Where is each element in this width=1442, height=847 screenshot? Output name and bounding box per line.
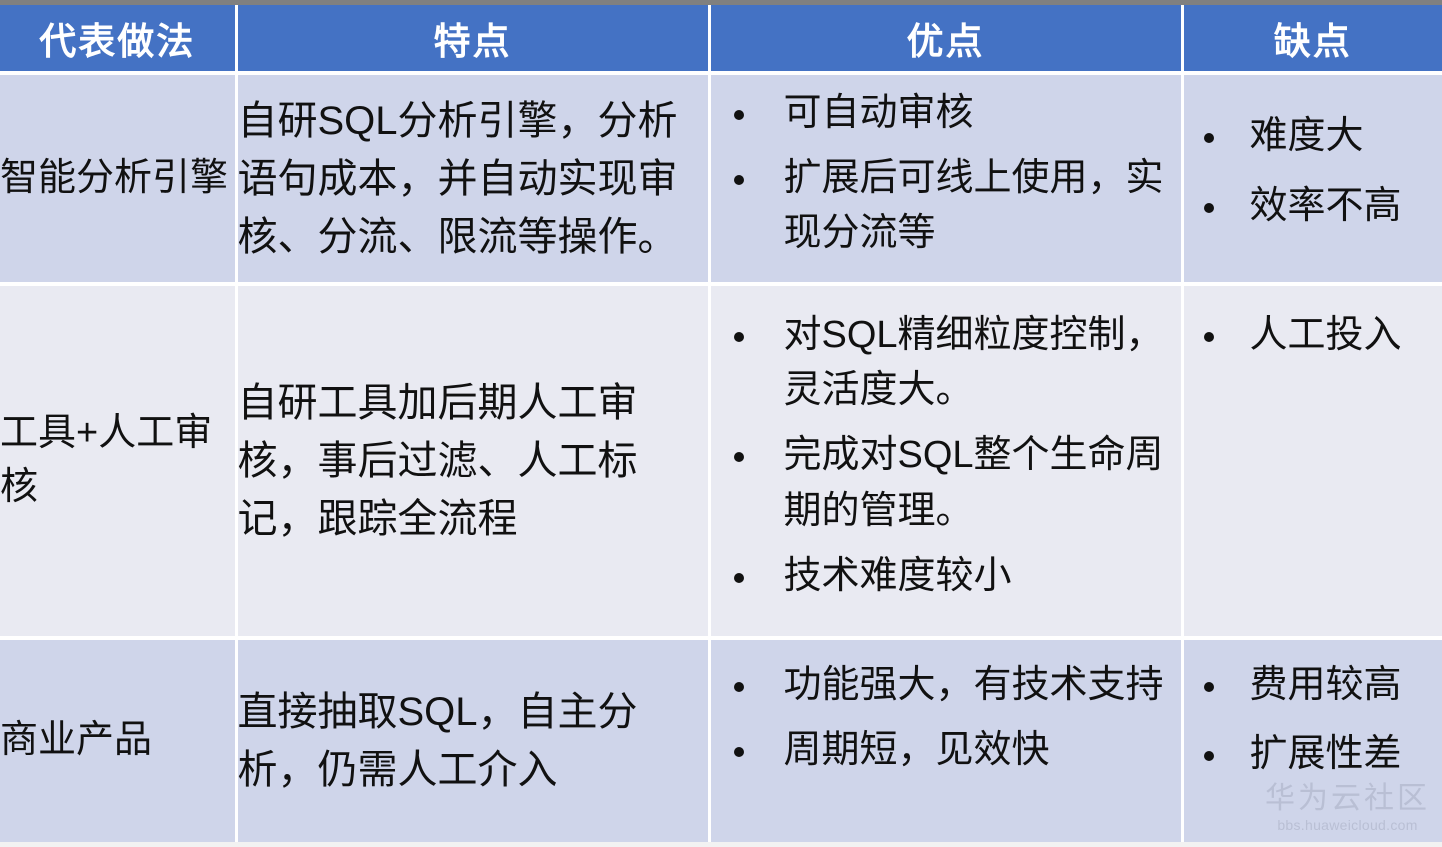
pros-list: 可自动审核 扩展后可线上使用，实现分流等 (711, 86, 1181, 261)
cell-pros: 可自动审核 扩展后可线上使用，实现分流等 (709, 73, 1182, 284)
list-item: 技术难度较小 (730, 549, 1173, 604)
table-header-row: 代表做法 特点 优点 缺点 (0, 5, 1442, 73)
list-item: 效率不高 (1198, 179, 1435, 234)
table-row: 商业产品 直接抽取SQL，自主分析，仍需人工介入 功能强大，有技术支持 周期短，… (0, 638, 1442, 842)
comparison-table-slide: 代表做法 特点 优点 缺点 智能分析引擎 自研SQL分析引擎，分析语句成本，并自… (0, 0, 1442, 847)
table-row: 智能分析引擎 自研SQL分析引擎，分析语句成本，并自动实现审核、分流、限流等操作… (0, 73, 1442, 284)
list-item: 周期短，见效快 (730, 723, 1173, 778)
column-header-pros: 优点 (709, 5, 1182, 73)
list-item: 费用较高 (1198, 658, 1435, 713)
cons-list: 人工投入 (1184, 286, 1442, 363)
cell-approach: 智能分析引擎 (0, 73, 236, 284)
list-item: 扩展后可线上使用，实现分流等 (730, 151, 1173, 261)
list-item: 难度大 (1198, 109, 1435, 164)
cons-list: 费用较高 扩展性差 (1184, 640, 1442, 782)
column-header-cons: 缺点 (1182, 5, 1442, 73)
list-item: 可自动审核 (730, 86, 1173, 141)
cell-features: 直接抽取SQL，自主分析，仍需人工介入 (236, 638, 709, 842)
cell-features: 自研工具加后期人工审核，事后过滤、人工标记，跟踪全流程 (236, 284, 709, 638)
cell-approach: 工具+人工审核 (0, 284, 236, 638)
cell-cons: 人工投入 (1182, 284, 1442, 638)
cons-list: 难度大 效率不高 (1184, 109, 1442, 233)
cell-pros: 功能强大，有技术支持 周期短，见效快 (709, 638, 1182, 842)
comparison-table: 代表做法 特点 优点 缺点 智能分析引擎 自研SQL分析引擎，分析语句成本，并自… (0, 5, 1442, 842)
cell-pros: 对SQL精细粒度控制，灵活度大。 完成对SQL整个生命周期的管理。 技术难度较小 (709, 284, 1182, 638)
pros-list: 对SQL精细粒度控制，灵活度大。 完成对SQL整个生命周期的管理。 技术难度较小 (711, 308, 1181, 603)
list-item: 扩展性差 (1198, 727, 1435, 782)
pros-list: 功能强大，有技术支持 周期短，见效快 (711, 640, 1181, 778)
list-item: 人工投入 (1198, 308, 1435, 363)
table-row: 工具+人工审核 自研工具加后期人工审核，事后过滤、人工标记，跟踪全流程 对SQL… (0, 284, 1442, 638)
column-header-approach: 代表做法 (0, 5, 236, 73)
cell-approach: 商业产品 (0, 638, 236, 842)
cell-cons: 难度大 效率不高 (1182, 73, 1442, 284)
cell-cons: 费用较高 扩展性差 (1182, 638, 1442, 842)
cell-features: 自研SQL分析引擎，分析语句成本，并自动实现审核、分流、限流等操作。 (236, 73, 709, 284)
list-item: 对SQL精细粒度控制，灵活度大。 (730, 308, 1173, 418)
column-header-features: 特点 (236, 5, 709, 73)
list-item: 功能强大，有技术支持 (730, 658, 1173, 713)
list-item: 完成对SQL整个生命周期的管理。 (730, 428, 1173, 538)
